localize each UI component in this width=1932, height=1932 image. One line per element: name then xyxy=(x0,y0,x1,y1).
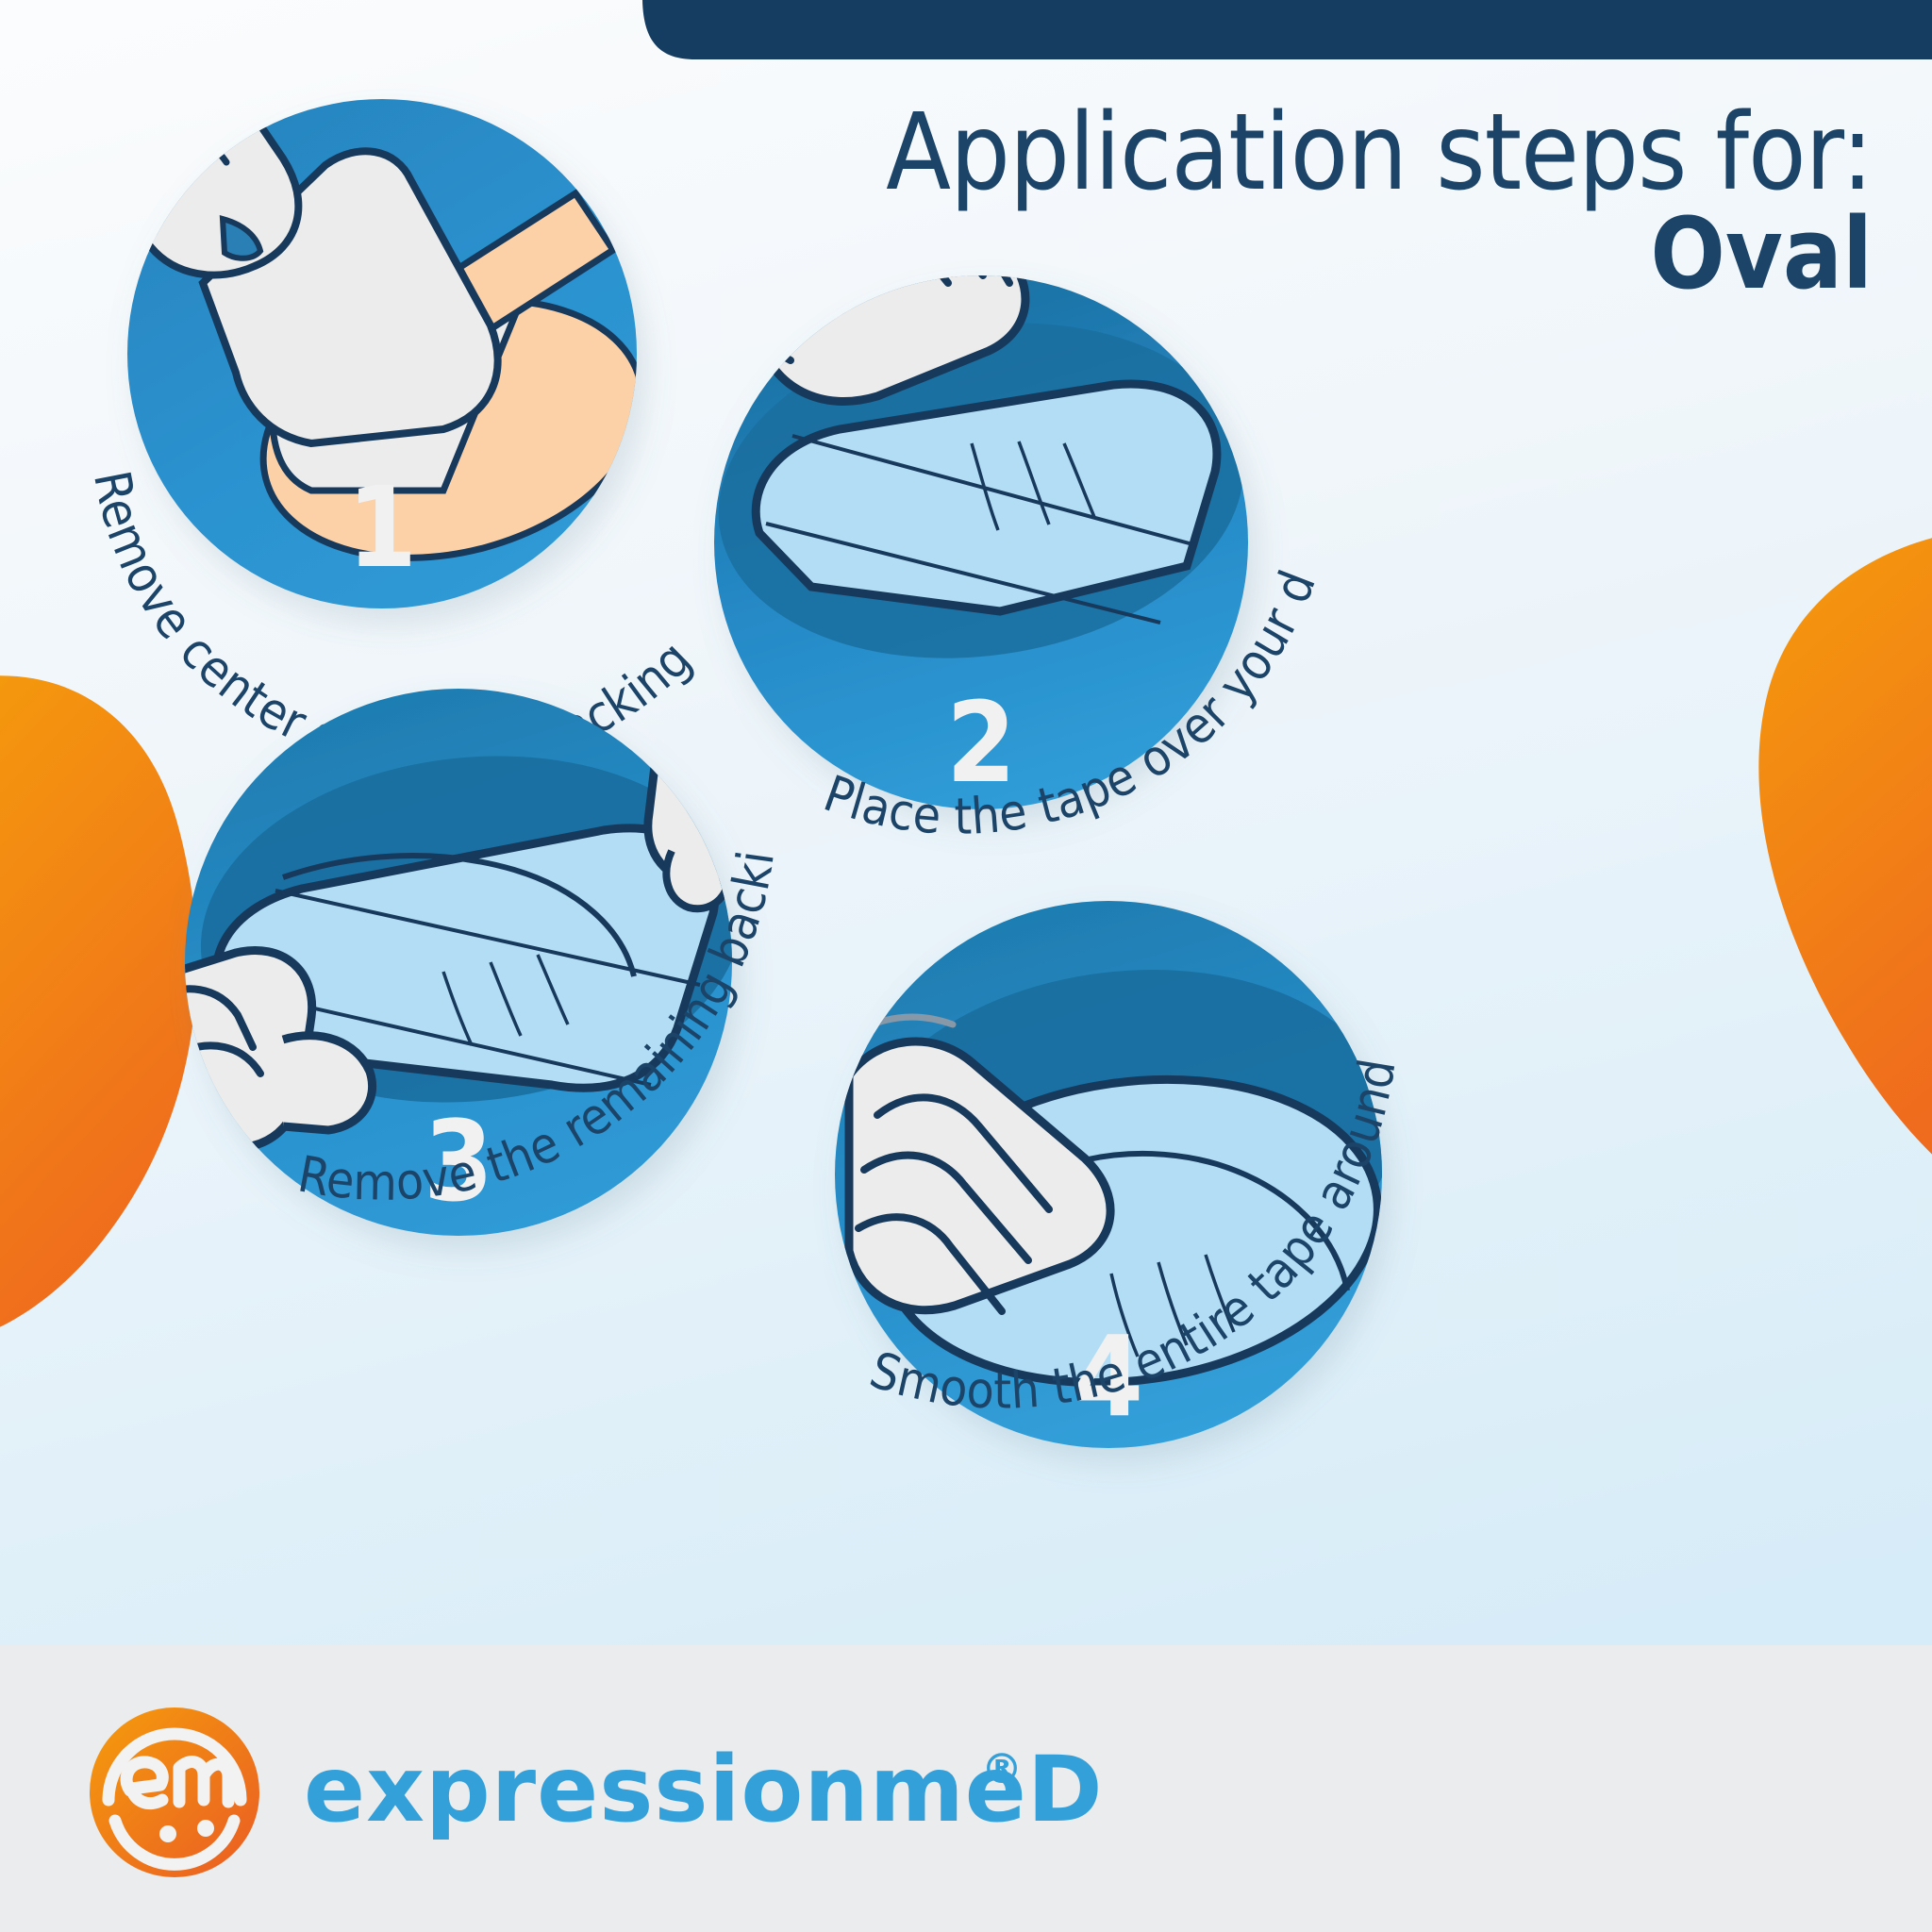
header-navy-bar xyxy=(642,0,1932,59)
infographic-page: Application steps for: Oval 1 Remove cen… xyxy=(0,0,1932,1932)
step-1-number: 1 xyxy=(347,462,417,592)
page-title-line2: Oval xyxy=(1650,196,1873,311)
brand-trademark: ® xyxy=(981,1745,1023,1793)
infographic-canvas: Application steps for: Oval 1 Remove cen… xyxy=(0,0,1932,1932)
